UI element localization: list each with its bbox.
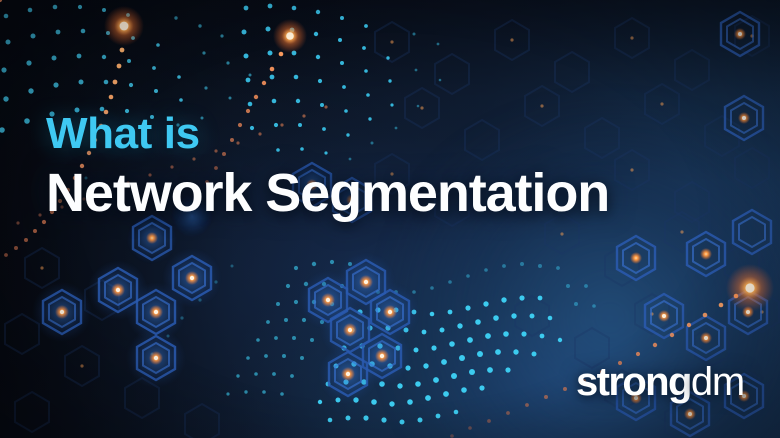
logo-strong-text: strong (576, 360, 691, 404)
slide-canvas: What is Network Segmentation strongdm (0, 0, 780, 438)
logo-dm-text: dm (691, 360, 744, 404)
strongdm-logo: strongdm (576, 362, 744, 402)
page-title: Network Segmentation (46, 165, 609, 221)
kicker-text: What is (46, 112, 609, 157)
headline-block: What is Network Segmentation (46, 112, 609, 221)
